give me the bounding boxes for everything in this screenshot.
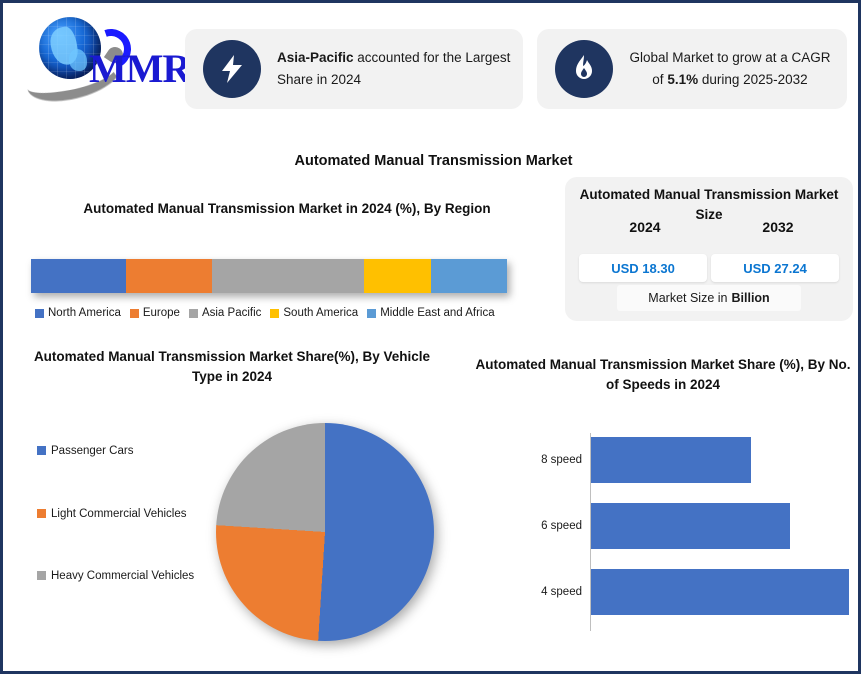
speeds-bar-label: 6 speed xyxy=(518,520,590,532)
speeds-bar-label: 8 speed xyxy=(518,454,590,466)
flame-icon xyxy=(555,40,613,98)
region-legend-label: Asia Pacific xyxy=(202,307,261,319)
market-size-panel: Automated Manual Transmission Market Siz… xyxy=(565,177,853,321)
badge-region-share: Asia-Pacific accounted for the Largest S… xyxy=(185,29,523,109)
badge-cagr: Global Market to grow at a CAGR of 5.1% … xyxy=(537,29,847,109)
vehicle-type-legend-label: Passenger Cars xyxy=(51,443,133,460)
region-legend-label: South America xyxy=(283,307,358,319)
speeds-plot: 8 speed6 speed4 speed xyxy=(518,433,848,631)
region-legend-label: North America xyxy=(48,307,121,319)
speeds-chart-title: Automated Manual Transmission Market Sha… xyxy=(473,355,853,396)
badge-region-bold: Asia-Pacific xyxy=(277,50,354,65)
badge-cagr-text: Global Market to grow at a CAGR of 5.1% … xyxy=(613,47,847,91)
badge-cagr-bold: 5.1% xyxy=(667,72,698,87)
region-segment xyxy=(212,259,364,293)
speeds-bar-label: 4 speed xyxy=(518,586,590,598)
speeds-bar-fill xyxy=(591,569,849,615)
region-legend-label: Europe xyxy=(143,307,180,319)
market-size-footer-pre: Market Size in xyxy=(648,291,727,305)
market-size-footer-unit: Billion xyxy=(732,291,770,305)
badge-cagr-post: during 2025-2032 xyxy=(698,72,808,87)
vehicle-type-chart: Automated Manual Transmission Market Sha… xyxy=(17,347,457,659)
speeds-bar-track xyxy=(590,503,848,549)
legend-swatch-icon xyxy=(189,309,198,318)
speeds-bar-row: 4 speed xyxy=(518,569,848,615)
region-legend-item: North America xyxy=(35,307,121,319)
region-segment xyxy=(126,259,212,293)
region-chart-title: Automated Manual Transmission Market in … xyxy=(17,199,557,219)
legend-swatch-icon xyxy=(367,309,376,318)
market-size-value-2032: USD 27.24 xyxy=(711,254,839,282)
vehicle-type-legend-item: Heavy Commercial Vehicles xyxy=(37,568,207,585)
region-segment xyxy=(31,259,126,293)
market-size-year-2024: 2024 xyxy=(590,219,700,235)
speeds-bar-track xyxy=(590,569,848,615)
badge-region-text: Asia-Pacific accounted for the Largest S… xyxy=(261,47,523,91)
region-legend-item: Asia Pacific xyxy=(189,307,261,319)
vehicle-type-chart-title: Automated Manual Transmission Market Sha… xyxy=(17,347,447,388)
legend-swatch-icon xyxy=(37,509,46,518)
vehicle-type-pie xyxy=(216,423,434,641)
speeds-bar-row: 6 speed xyxy=(518,503,848,549)
infographic-canvas: MMR Asia-Pacific accounted for the Large… xyxy=(0,0,861,674)
page-title: Automated Manual Transmission Market xyxy=(3,153,861,169)
brand-logo: MMR xyxy=(21,11,181,96)
region-legend-item: Europe xyxy=(130,307,180,319)
region-legend-item: South America xyxy=(270,307,358,319)
market-size-footer: Market Size inBillion xyxy=(617,285,801,311)
header: MMR Asia-Pacific accounted for the Large… xyxy=(3,3,861,143)
region-chart: Automated Manual Transmission Market in … xyxy=(17,199,557,333)
speeds-bar-track xyxy=(590,437,848,483)
legend-swatch-icon xyxy=(35,309,44,318)
vehicle-type-legend-label: Light Commercial Vehicles xyxy=(51,506,187,523)
lightning-bolt-icon xyxy=(203,40,261,98)
region-chart-legend: North AmericaEuropeAsia PacificSouth Ame… xyxy=(35,307,565,319)
legend-swatch-icon xyxy=(37,571,46,580)
speeds-bar-row: 8 speed xyxy=(518,437,848,483)
brand-name: MMR xyxy=(89,45,190,92)
vehicle-type-legend-item: Light Commercial Vehicles xyxy=(37,506,207,523)
market-size-value-2024: USD 18.30 xyxy=(579,254,707,282)
legend-swatch-icon xyxy=(270,309,279,318)
region-legend-item: Middle East and Africa xyxy=(367,307,494,319)
speeds-bar-fill xyxy=(591,437,751,483)
region-segment xyxy=(431,259,507,293)
region-legend-label: Middle East and Africa xyxy=(380,307,494,319)
region-segment xyxy=(364,259,431,293)
speeds-bar-fill xyxy=(591,503,790,549)
legend-swatch-icon xyxy=(130,309,139,318)
vehicle-type-legend: Passenger CarsLight Commercial VehiclesH… xyxy=(37,443,207,631)
market-size-year-2032: 2032 xyxy=(723,219,833,235)
vehicle-type-legend-item: Passenger Cars xyxy=(37,443,207,460)
legend-swatch-icon xyxy=(37,446,46,455)
region-stacked-bar xyxy=(31,259,507,293)
speeds-chart: Automated Manual Transmission Market Sha… xyxy=(473,355,858,655)
vehicle-type-legend-label: Heavy Commercial Vehicles xyxy=(51,568,194,585)
